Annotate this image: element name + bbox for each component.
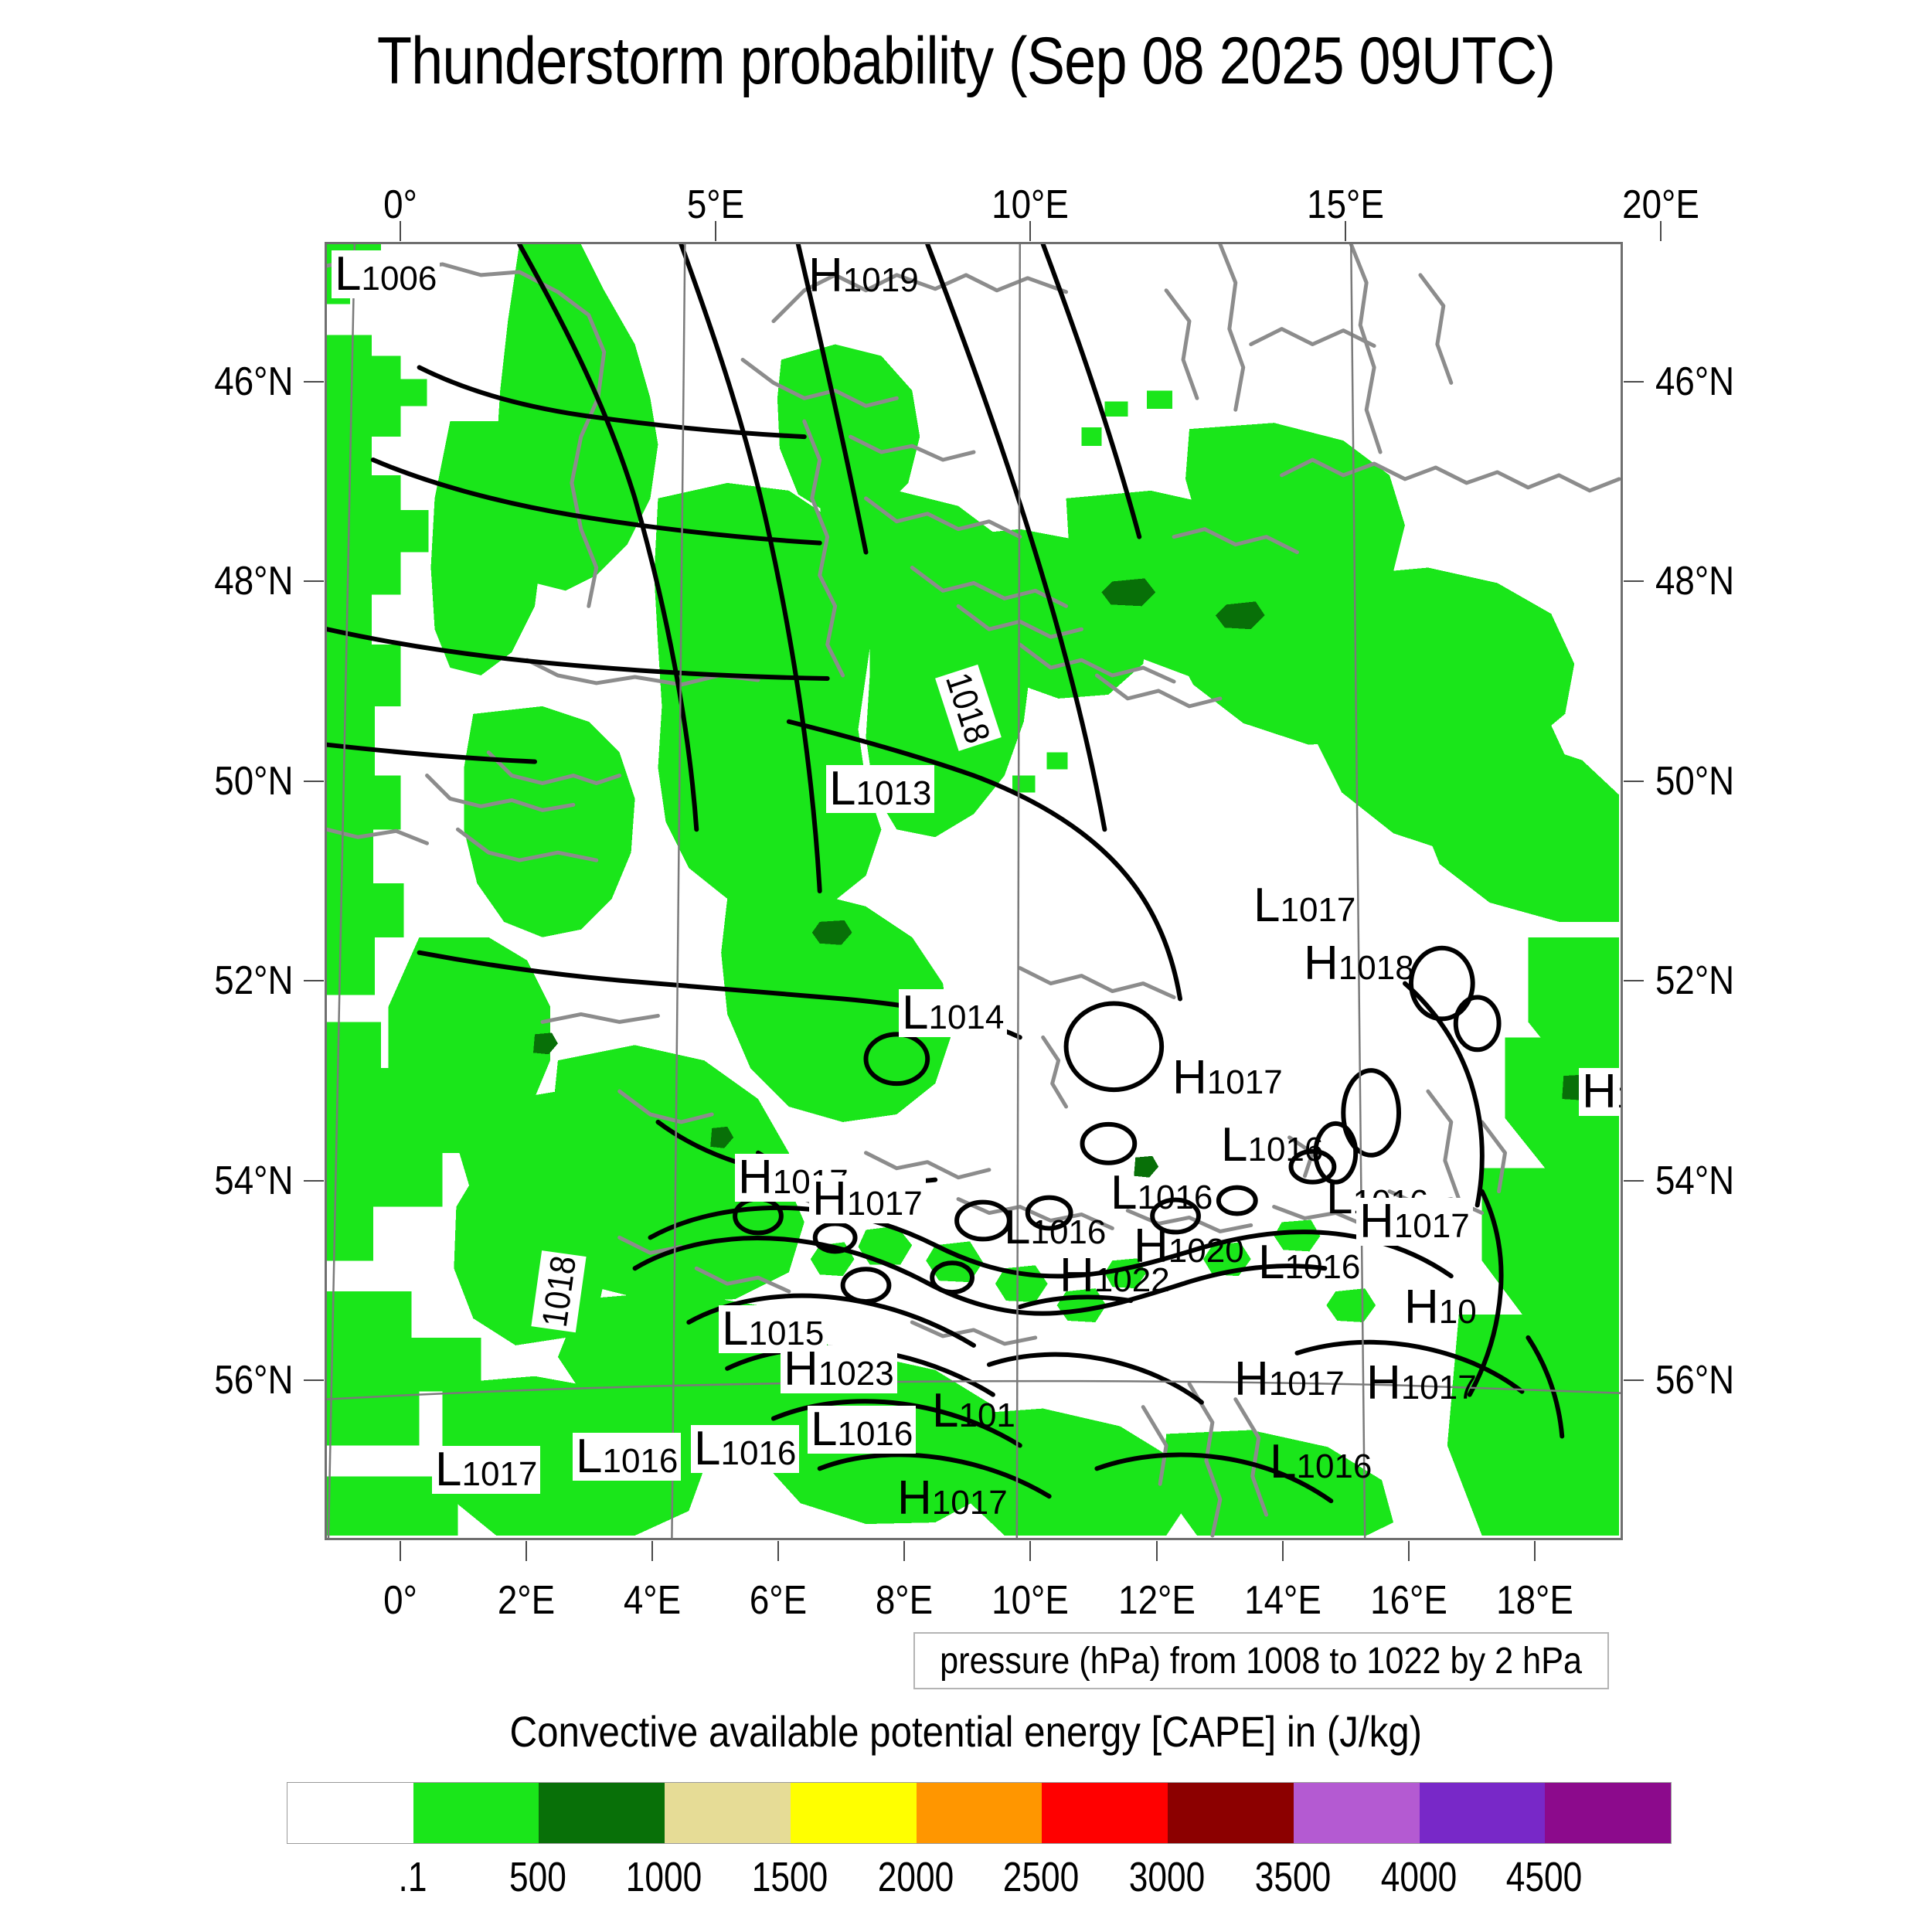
pressure-system-value: 1016 — [1030, 1213, 1106, 1251]
pressure-system-type: H — [784, 1342, 818, 1396]
colorbar-segment[interactable] — [917, 1783, 1043, 1843]
pressure-system-high: H1023 — [781, 1345, 897, 1393]
pressure-system-type: H — [1304, 937, 1338, 990]
colorbar-segment[interactable] — [1545, 1783, 1671, 1843]
pressure-system-type: H — [897, 1471, 932, 1525]
colorbar-tick-label: 2000 — [877, 1853, 954, 1901]
pressure-system-value: 1017 — [932, 1484, 1008, 1522]
pressure-system-value: 1016 — [1247, 1131, 1323, 1168]
pressure-system-type: L — [722, 1302, 748, 1355]
axis-tick-mark — [526, 1541, 527, 1561]
pressure-system-high: H1017 — [1363, 1359, 1480, 1407]
axis-tick-label: 2°E — [498, 1577, 555, 1624]
pressure-system-high: H10 — [1579, 1068, 1623, 1116]
pressure-caption-text: pressure (hPa) from 1008 to 1022 by 2 hP… — [940, 1640, 1583, 1682]
pressure-system-type: L — [1111, 1166, 1137, 1219]
pressure-system-low: L1016 — [1001, 1204, 1109, 1252]
axis-tick-mark — [1029, 221, 1031, 241]
pressure-system-low: L1016 — [1255, 1239, 1363, 1287]
pressure-system-value: 1017 — [1401, 1369, 1477, 1406]
page-title: Thunderstorm probability (Sep 08 2025 09… — [135, 23, 1797, 100]
axis-tick-label: 6°E — [750, 1577, 807, 1624]
pressure-system-high: H1017 — [894, 1475, 1011, 1522]
pressure-system-value: 1016 — [1284, 1248, 1360, 1286]
colorbar-segment[interactable] — [791, 1783, 917, 1843]
pressure-system-high: H1017 — [809, 1175, 926, 1223]
axis-tick-mark — [1408, 1541, 1410, 1561]
axis-tick-mark — [651, 1541, 653, 1561]
pressure-system-low: L1016 — [691, 1425, 799, 1473]
axis-tick-label: 46°N — [175, 359, 294, 405]
colorbar-segment[interactable] — [1168, 1783, 1294, 1843]
axis-tick-label: 0° — [383, 1577, 417, 1624]
pressure-system-value: 1018 — [1338, 949, 1414, 987]
pressure-system-value: 1017 — [847, 1185, 923, 1223]
axis-tick-mark — [400, 1541, 401, 1561]
axis-tick-mark — [1660, 221, 1662, 241]
colorbar-tick-label: 1500 — [752, 1853, 828, 1901]
pressure-system-type: L — [335, 247, 361, 301]
pressure-system-type: L — [811, 1403, 837, 1456]
axis-tick-mark — [1345, 221, 1346, 241]
axis-tick-mark — [304, 381, 324, 383]
colorbar-tick-label: 2500 — [1003, 1853, 1080, 1901]
pressure-system-value: 1020 — [1168, 1232, 1244, 1270]
colorbar-tick-label: 3500 — [1255, 1853, 1332, 1901]
axis-tick-mark — [1624, 980, 1644, 981]
pressure-system-high: H1017 — [1356, 1198, 1473, 1246]
pressure-system-value: 1022 — [1094, 1261, 1170, 1299]
pressure-system-value: 1017 — [1394, 1207, 1470, 1245]
pressure-system-type: H — [1366, 1356, 1401, 1410]
map-plot-area[interactable]: L1006H1019L1013L1014L1017H1018H1017H10L1… — [325, 242, 1623, 1540]
cape-shaded-field — [327, 244, 1619, 1536]
colorbar-segment[interactable] — [665, 1783, 791, 1843]
pressure-system-value: 1016 — [602, 1442, 678, 1480]
pressure-system-type: H — [1060, 1249, 1094, 1302]
pressure-system-low: L1016 — [1107, 1169, 1216, 1217]
axis-tick-mark — [304, 980, 324, 981]
axis-tick-label: 14°E — [1244, 1577, 1321, 1624]
axis-tick-mark — [304, 1379, 324, 1381]
axis-tick-mark — [903, 1541, 905, 1561]
pressure-system-type: L — [902, 986, 928, 1039]
map-canvas — [327, 244, 1621, 1538]
pressure-system-type: H — [1359, 1195, 1394, 1248]
axis-tick-mark — [304, 781, 324, 782]
colorbar-title-text: Convective available potential energy [C… — [510, 1706, 1423, 1757]
pressure-system-value: 1016 — [1296, 1447, 1372, 1485]
colorbar[interactable] — [287, 1782, 1672, 1844]
pressure-system-value: 10 — [1617, 1077, 1623, 1115]
pressure-system-type: H — [1404, 1281, 1439, 1334]
axis-tick-mark — [1156, 1541, 1158, 1561]
pressure-system-type: L — [694, 1422, 720, 1475]
axis-tick-label: 56°N — [175, 1357, 294, 1403]
axis-tick-mark — [715, 221, 716, 241]
pressure-system-value: 1016 — [720, 1434, 796, 1472]
colorbar-tick-label: 4000 — [1380, 1853, 1457, 1901]
colorbar-tick-label: 4500 — [1506, 1853, 1583, 1901]
colorbar-segment[interactable] — [1042, 1783, 1168, 1843]
axis-tick-label: 8°E — [876, 1577, 933, 1624]
pressure-system-type: L — [1270, 1435, 1296, 1488]
pressure-system-value: 1016 — [837, 1415, 913, 1453]
colorbar-tick-label: .1 — [398, 1853, 427, 1901]
pressure-system-low: L1013 — [826, 765, 934, 813]
axis-tick-label: 16°E — [1370, 1577, 1447, 1624]
axis-tick-mark — [1624, 1379, 1644, 1381]
colorbar-tick-label: 3000 — [1129, 1853, 1206, 1901]
pressure-system-value: 1017 — [461, 1455, 537, 1493]
pressure-system-value: 1016 — [1137, 1179, 1213, 1216]
pressure-system-type: H — [1582, 1065, 1617, 1118]
axis-tick-label: 46°N — [1655, 359, 1734, 405]
axis-tick-mark — [1029, 1541, 1031, 1561]
axis-tick-label: 18°E — [1496, 1577, 1573, 1624]
axis-tick-label: 12°E — [1118, 1577, 1196, 1624]
pressure-system-low: L1016 — [1267, 1438, 1375, 1486]
pressure-system-low: L1016 — [808, 1406, 916, 1454]
axis-tick-label: 48°N — [175, 558, 294, 604]
pressure-system-value: 1014 — [928, 998, 1004, 1036]
axis-tick-label: 52°N — [175, 957, 294, 1004]
pressure-system-type: L — [1221, 1118, 1247, 1172]
pressure-caption-box: pressure (hPa) from 1008 to 1022 by 2 hP… — [913, 1632, 1609, 1689]
pressure-system-type: H — [738, 1151, 773, 1204]
colorbar-tick-label: 1000 — [626, 1853, 702, 1901]
axis-tick-mark — [1624, 381, 1644, 383]
pressure-system-high: H1017 — [1231, 1355, 1348, 1403]
pressure-system-type: L — [435, 1443, 461, 1496]
pressure-system-type: L — [1326, 1171, 1352, 1224]
pressure-system-type: L — [1258, 1236, 1284, 1289]
axis-tick-mark — [1624, 1180, 1644, 1182]
axis-tick-label: 50°N — [175, 758, 294, 804]
axis-tick-label: 50°N — [1655, 758, 1734, 804]
axis-tick-label: 54°N — [175, 1158, 294, 1204]
pressure-system-value: 101 — [958, 1396, 1015, 1434]
colorbar-segment[interactable] — [1294, 1783, 1420, 1843]
pressure-system-type: H — [1234, 1352, 1269, 1406]
axis-tick-mark — [304, 1180, 324, 1182]
pressure-system-low: L1006 — [332, 250, 440, 298]
pressure-system-high: H10 — [1401, 1284, 1480, 1332]
colorbar-tick-labels: .150010001500200025003000350040004500 — [287, 1853, 1670, 1907]
pressure-system-type: L — [1004, 1201, 1030, 1254]
axis-tick-label: 4°E — [624, 1577, 681, 1624]
axis-tick-label: 54°N — [1655, 1158, 1734, 1204]
pressure-system-value: 1019 — [843, 261, 919, 299]
axis-tick-label: 52°N — [1655, 957, 1734, 1004]
pressure-system-value: 1013 — [855, 774, 931, 812]
pressure-system-value: 1023 — [818, 1355, 894, 1393]
axis-tick-label: 56°N — [1655, 1357, 1734, 1403]
pressure-system-high: H1019 — [805, 252, 922, 300]
pressure-system-type: H — [812, 1172, 847, 1226]
axis-tick-label: 10°E — [992, 1577, 1070, 1624]
pressure-system-type: L — [932, 1384, 958, 1437]
axis-tick-mark — [304, 580, 324, 582]
pressure-system-low: L1017 — [1250, 882, 1359, 930]
pressure-system-value: 10 — [1439, 1293, 1477, 1331]
pressure-system-type: H — [1172, 1051, 1207, 1104]
pressure-system-high: H1022 — [1056, 1252, 1173, 1300]
pressure-system-low: L1016 — [573, 1433, 681, 1481]
pressure-system-type: L — [576, 1430, 602, 1483]
pressure-system-low: L101 — [929, 1387, 1019, 1435]
pressure-system-high: H1017 — [1169, 1054, 1286, 1102]
pressure-system-type: L — [829, 762, 855, 815]
pressure-system-low: L1017 — [432, 1446, 540, 1494]
axis-tick-mark — [400, 221, 401, 241]
pressure-system-low: L1016 — [1218, 1121, 1326, 1169]
colorbar-segment[interactable] — [287, 1783, 413, 1843]
colorbar-segment[interactable] — [1420, 1783, 1546, 1843]
pressure-system-type: L — [1253, 879, 1280, 932]
axis-tick-label: 48°N — [1655, 558, 1734, 604]
colorbar-segment[interactable] — [413, 1783, 539, 1843]
axis-tick-mark — [1534, 1541, 1536, 1561]
axis-tick-mark — [1282, 1541, 1284, 1561]
colorbar-segment[interactable] — [539, 1783, 665, 1843]
pressure-system-value: 1017 — [1207, 1063, 1283, 1101]
axis-tick-mark — [777, 1541, 779, 1561]
axis-tick-mark — [1624, 580, 1644, 582]
colorbar-tick-label: 500 — [510, 1853, 567, 1901]
pressure-system-value: 1006 — [361, 260, 437, 298]
axis-tick-mark — [1624, 781, 1644, 782]
pressure-system-type: H — [808, 249, 843, 302]
pressure-system-high: H1018 — [1301, 940, 1417, 988]
pressure-system-value: 1017 — [1280, 891, 1355, 929]
pressure-system-low: L1014 — [899, 989, 1007, 1037]
colorbar-title: Convective available potential energy [C… — [0, 1706, 1932, 1757]
pressure-system-value: 1017 — [1269, 1365, 1345, 1403]
